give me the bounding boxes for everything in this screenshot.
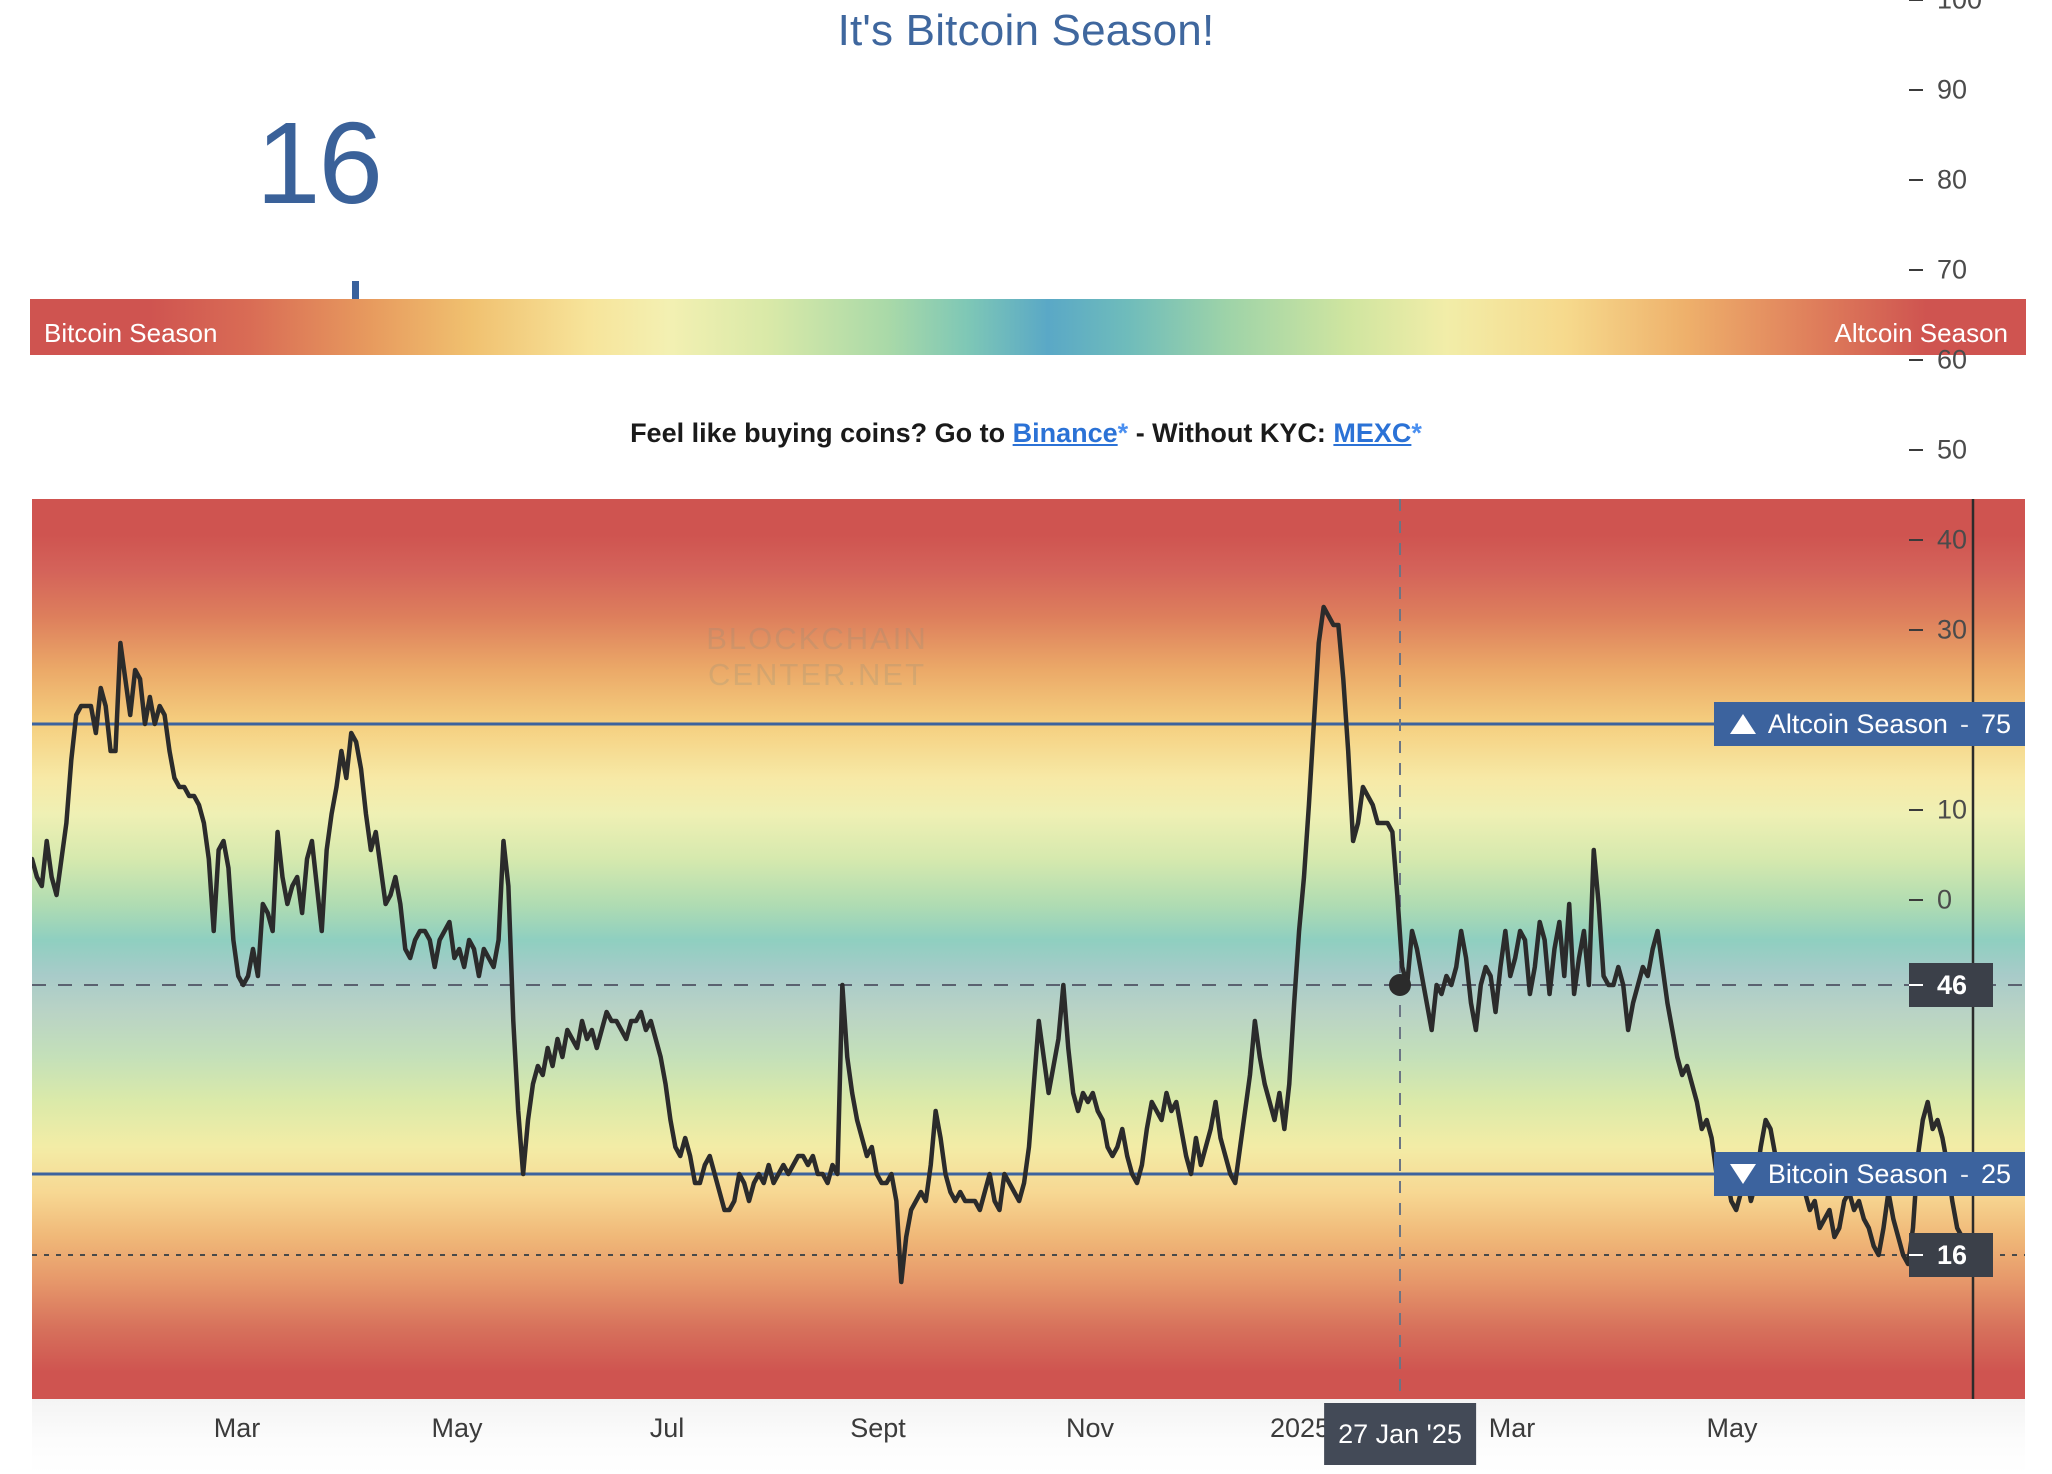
current-value-badge: 16: [1909, 1233, 1993, 1277]
x-tick-label-Mar: Mar: [1489, 1413, 1536, 1444]
altcoin-season-threshold-pill-label: Altcoin Season: [1768, 709, 1948, 740]
bitcoin-season-threshold-pill-dash: -: [1960, 1159, 1969, 1190]
y-tick-label-90: 90: [1937, 75, 1967, 106]
y-tick-mark: [1909, 539, 1923, 541]
triangle-up-icon: [1730, 714, 1756, 734]
y-tick-label-40: 40: [1937, 525, 1967, 556]
mexc-asterisk: *: [1411, 418, 1422, 448]
y-tick-mark: [1909, 359, 1923, 361]
binance-asterisk: *: [1118, 418, 1129, 448]
altcoin-season-index-page: It's Bitcoin Season! 16 Bitcoin Season A…: [0, 0, 2052, 1474]
x-tick-label-Sept: Sept: [850, 1413, 906, 1444]
y-tick-label-80: 80: [1937, 165, 1967, 196]
season-gradient-bar: [30, 299, 2026, 355]
crosshair-value-badge: 46: [1909, 963, 1993, 1007]
page-title: It's Bitcoin Season!: [0, 6, 2052, 56]
y-axis: 0102030405060708090100: [1909, 0, 1993, 900]
y-tick-mark: [1909, 179, 1923, 181]
x-tick-label-May: May: [431, 1413, 482, 1444]
bitcoin-season-threshold-pill[interactable]: Bitcoin Season-25: [1714, 1152, 2025, 1196]
y-tick-mark: [1909, 0, 1923, 1]
current-value-badge-text: 16: [1937, 1240, 1967, 1271]
x-tick-label-Nov: Nov: [1066, 1413, 1114, 1444]
y-tick-label-60: 60: [1937, 345, 1967, 376]
promo-line: Feel like buying coins? Go to Binance* -…: [0, 418, 2052, 449]
binance-link[interactable]: Binance: [1013, 418, 1118, 448]
y-tick-mark: [1909, 899, 1923, 901]
index-line-chart: [32, 499, 2025, 1399]
y-tick-label-30: 30: [1937, 615, 1967, 646]
y-tick-label-0: 0: [1937, 885, 1952, 916]
gauge-label-bitcoin-season: Bitcoin Season: [44, 318, 217, 349]
bitcoin-season-threshold-pill-label: Bitcoin Season: [1768, 1159, 1948, 1190]
bitcoin-season-threshold-pill-value: 25: [1981, 1159, 2011, 1190]
y-tick-mark: [1909, 269, 1923, 271]
x-axis-date-tooltip: 27 Jan '25: [1324, 1403, 1476, 1465]
altcoin-season-threshold-pill[interactable]: Altcoin Season-75: [1714, 702, 2025, 746]
x-axis: MarMayJulSeptNov2025MarMay: [32, 1399, 2025, 1474]
x-tick-label-Jul: Jul: [650, 1413, 685, 1444]
x-tick-label-Mar: Mar: [214, 1413, 261, 1444]
triangle-down-icon: [1730, 1164, 1756, 1184]
y-tick-label-50: 50: [1937, 435, 1967, 466]
promo-prefix: Feel like buying coins? Go to: [630, 418, 1013, 448]
altcoin-season-threshold-pill-value: 75: [1981, 709, 2011, 740]
y-tick-mark: [1909, 449, 1923, 451]
altcoin-season-threshold-pill-dash: -: [1960, 709, 1969, 740]
y-tick-mark: [1909, 629, 1923, 631]
y-tick-label-70: 70: [1937, 255, 1967, 286]
y-tick-label-100: 100: [1937, 0, 1982, 16]
y-tick-mark: [1909, 809, 1923, 811]
badge-tick: [1909, 1254, 1923, 1256]
mexc-link[interactable]: MEXC: [1333, 418, 1411, 448]
chart-area[interactable]: BLOCKCHAIN CENTER.NET: [32, 499, 2025, 1399]
promo-middle: - Without KYC:: [1128, 418, 1333, 448]
badge-tick: [1909, 984, 1923, 986]
x-tick-label-May: May: [1706, 1413, 1757, 1444]
crosshair-value-badge-text: 46: [1937, 970, 1967, 1001]
gauge-value: 16: [256, 105, 381, 221]
y-tick-mark: [1909, 89, 1923, 91]
y-tick-label-10: 10: [1937, 795, 1967, 826]
x-tick-label-2025: 2025: [1270, 1413, 1330, 1444]
